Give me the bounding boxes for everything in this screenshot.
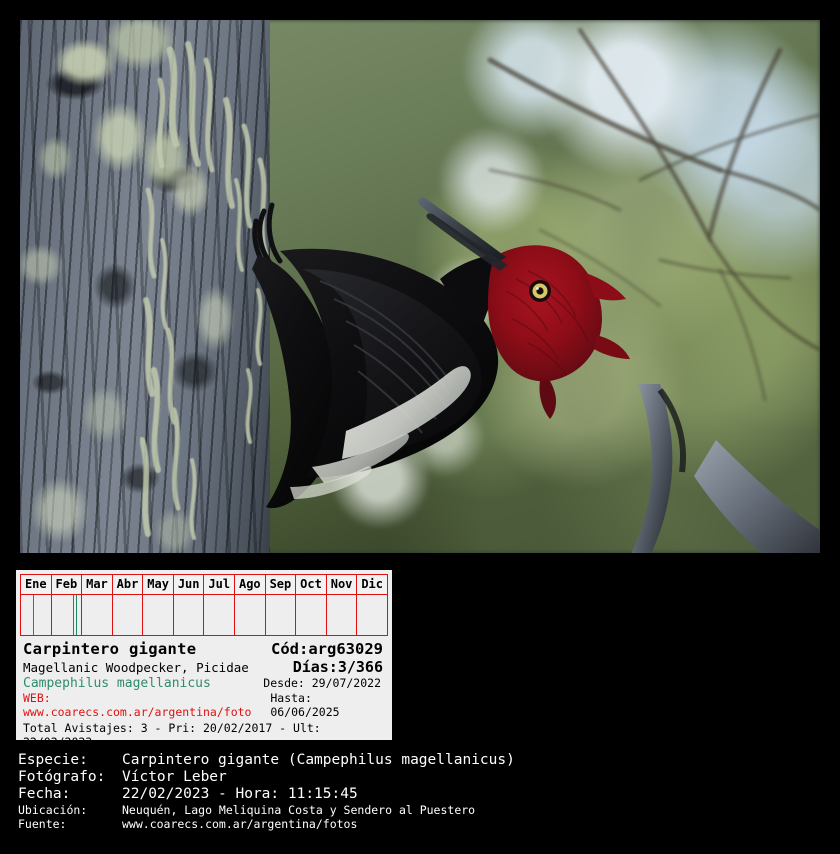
caption-value-fotografo: Víctor Leber (122, 769, 227, 785)
calendar-header-row: Ene Feb Mar Abr May Jun Jul Ago Sep Oct … (21, 575, 388, 595)
species-code: Cód:arg63029 (271, 640, 385, 658)
calendar-cell-nov (326, 595, 357, 636)
sighting-mark (76, 595, 78, 635)
magellanic-woodpecker (250, 195, 650, 553)
caption-value-fecha: 22/02/2023 - Hora: 11:15:45 (122, 786, 358, 802)
caption-row-fuente: Fuente: www.coarecs.com.ar/argentina/fot… (18, 817, 822, 831)
woodpecker-eye-highlight (536, 287, 539, 290)
caption-row-fotografo: Fotógrafo: Víctor Leber (18, 769, 822, 785)
month-header-may: May (143, 575, 174, 595)
month-header-jun: Jun (173, 575, 204, 595)
calendar-cell-jul (204, 595, 235, 636)
calendar-cell-sep (265, 595, 296, 636)
photo-caption: Especie: Carpintero gigante (Campephilus… (18, 752, 822, 831)
calendar-cell-dic (357, 595, 388, 636)
species-info-panel: Ene Feb Mar Abr May Jun Jul Ago Sep Oct … (16, 570, 392, 740)
caption-value-fuente[interactable]: www.coarecs.com.ar/argentina/fotos (122, 817, 357, 831)
caption-label-ubicacion: Ubicación: (18, 803, 122, 817)
species-web-row: WEB: www.coarecs.com.ar/argentina/foto H… (23, 691, 385, 719)
species-web-link[interactable]: WEB: www.coarecs.com.ar/argentina/foto (23, 691, 270, 719)
caption-row-ubicacion: Ubicación: Neuquén, Lago Meliquina Costa… (18, 803, 822, 817)
woodpecker-crest-lower (594, 335, 630, 359)
calendar-cell-jun (173, 595, 204, 636)
species-sighting-totals: Total Avistajes: 3 - Pri: 20/02/2017 - U… (23, 721, 385, 749)
month-header-ene: Ene (21, 575, 52, 595)
species-desde-date: Desde: 29/07/2022 (263, 676, 385, 690)
species-scientific-row: Campephilus magellanicus Desde: 29/07/20… (23, 676, 385, 691)
month-header-sep: Sep (265, 575, 296, 595)
species-common-name: Magellanic Woodpecker, Picidae (23, 660, 249, 675)
sighting-calendar: Ene Feb Mar Abr May Jun Jul Ago Sep Oct … (20, 574, 388, 636)
month-header-jul: Jul (204, 575, 235, 595)
month-header-abr: Abr (112, 575, 143, 595)
calendar-sighting-row (21, 595, 388, 636)
woodpecker-throat (539, 381, 556, 419)
caption-value-especie: Carpintero gigante (Campephilus magellan… (122, 752, 515, 768)
calendar-cell-feb (51, 595, 82, 636)
month-header-dic: Dic (357, 575, 388, 595)
sighting-mark (33, 595, 35, 635)
calendar-cell-oct (296, 595, 327, 636)
species-name-row: Carpintero gigante Cód:arg63029 (23, 640, 385, 658)
species-details: Carpintero gigante Cód:arg63029 Magellan… (20, 636, 388, 749)
caption-row-fecha: Fecha: 22/02/2023 - Hora: 11:15:45 (18, 786, 822, 802)
month-header-ago: Ago (235, 575, 266, 595)
species-hasta-date: Hasta: 06/06/2025 (270, 691, 385, 719)
calendar-cell-may (143, 595, 174, 636)
species-name: Carpintero gigante (23, 640, 196, 658)
month-header-feb: Feb (51, 575, 82, 595)
month-header-mar: Mar (82, 575, 113, 595)
species-common-row: Magellanic Woodpecker, Picidae Días:3/36… (23, 658, 385, 676)
branch-vertical (628, 384, 672, 553)
caption-label-fotografo: Fotógrafo: (18, 769, 122, 785)
calendar-cell-mar (82, 595, 113, 636)
caption-label-fuente: Fuente: (18, 817, 122, 831)
caption-label-fecha: Fecha: (18, 786, 122, 802)
caption-value-ubicacion: Neuquén, Lago Meliquina Costa y Sendero … (122, 803, 475, 817)
caption-row-especie: Especie: Carpintero gigante (Campephilus… (18, 752, 822, 768)
species-days-count: Días:3/366 (293, 658, 385, 676)
species-scientific-name: Campephilus magellanicus (23, 676, 211, 691)
branch-diagonal (694, 440, 820, 553)
caption-label-especie: Especie: (18, 752, 122, 768)
foreground-dead-branch (620, 380, 820, 553)
woodpecker-bill (418, 198, 506, 263)
calendar-cell-abr (112, 595, 143, 636)
calendar-cell-ago (235, 595, 266, 636)
photograph (20, 20, 820, 553)
sighting-mark (73, 595, 75, 635)
calendar-cell-ene (21, 595, 52, 636)
month-header-nov: Nov (326, 575, 357, 595)
month-header-oct: Oct (296, 575, 327, 595)
